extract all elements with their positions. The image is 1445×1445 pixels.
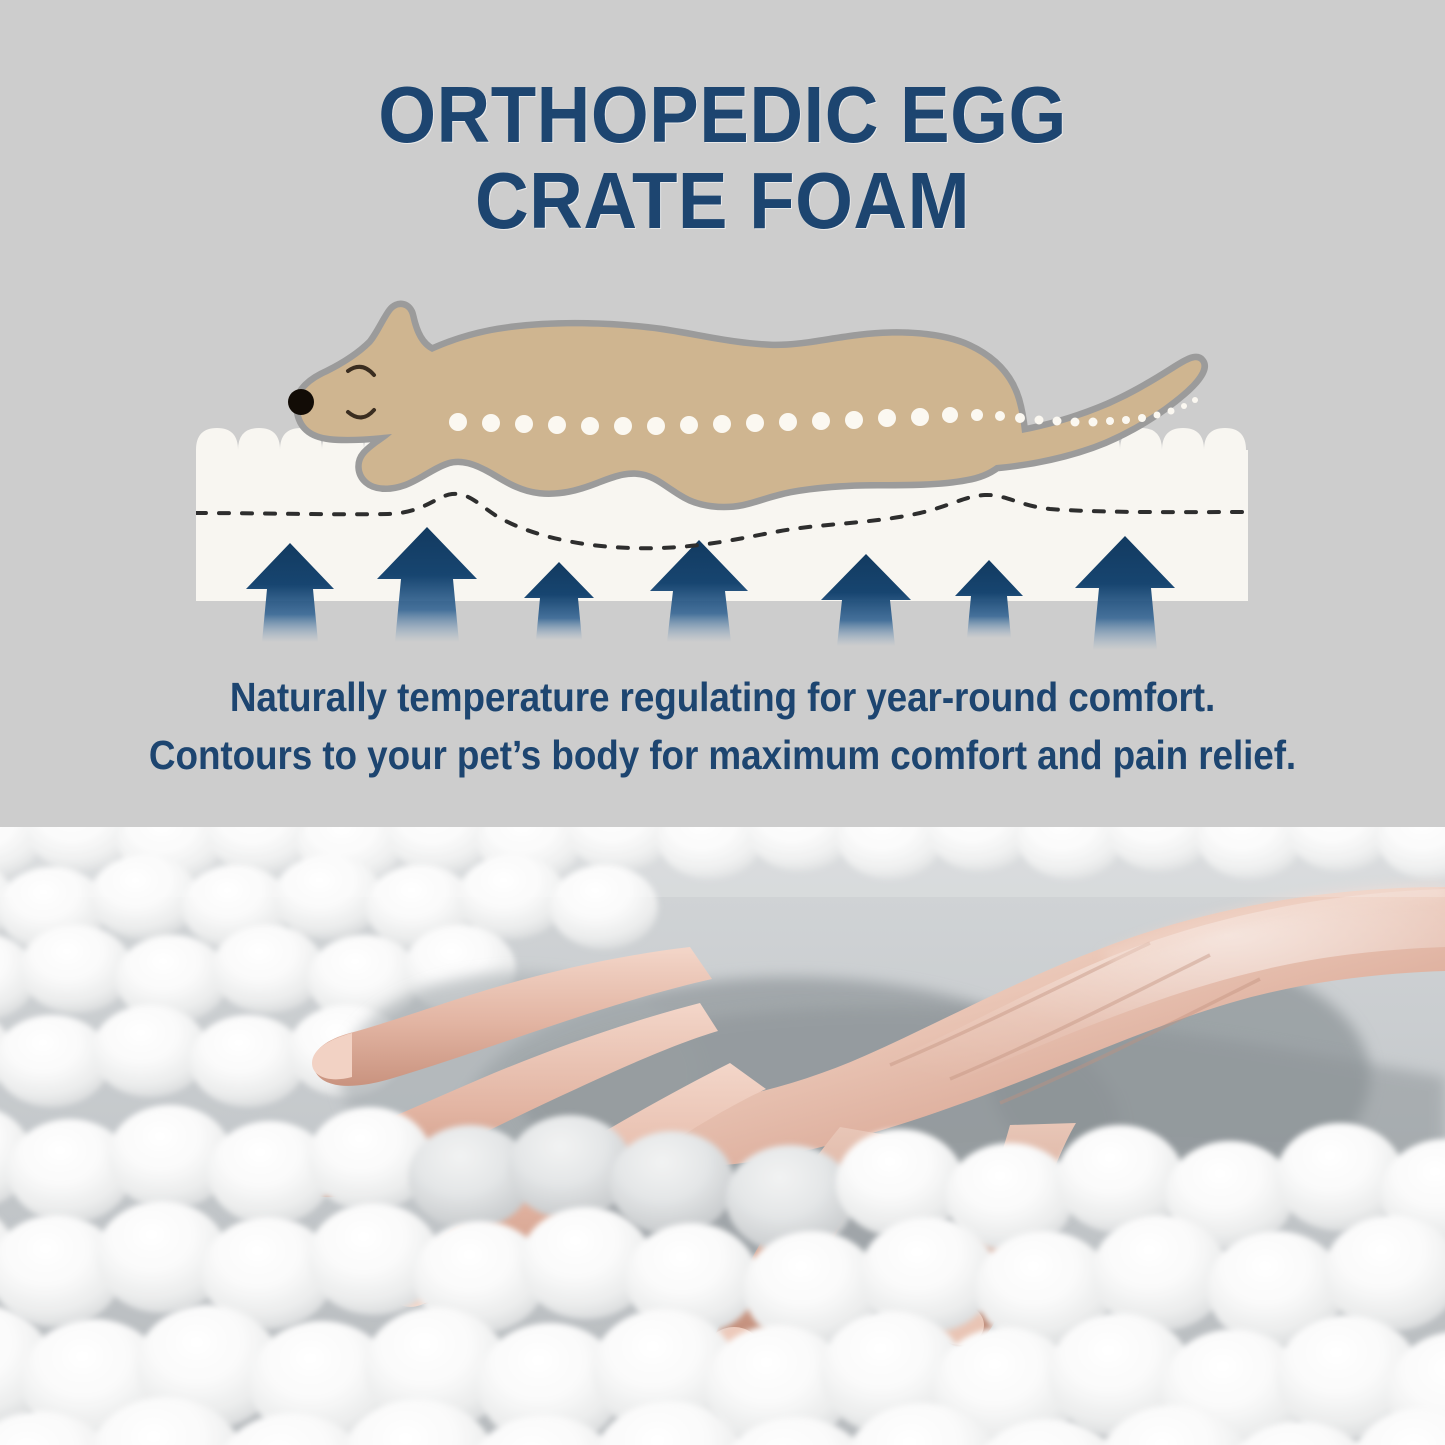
page-title: ORTHOPEDIC EGG CRATE FOAM: [51, 72, 1395, 245]
top-infographic-panel: ORTHOPEDIC EGG CRATE FOAM: [0, 0, 1445, 827]
caption-line-1: Naturally temperature regulating for yea…: [72, 668, 1373, 726]
foam-bump-field-front: [0, 1105, 1445, 1445]
dog-nose: [288, 389, 314, 415]
caption-line-2: Contours to your pet’s body for maximum …: [72, 726, 1373, 784]
caption-block: Naturally temperature regulating for yea…: [0, 668, 1445, 784]
product-infographic-page: ORTHOPEDIC EGG CRATE FOAM: [0, 0, 1445, 1445]
foam-illustration: [0, 290, 1445, 660]
hand-pressing-egg-crate-foam-photo: [0, 827, 1445, 1445]
